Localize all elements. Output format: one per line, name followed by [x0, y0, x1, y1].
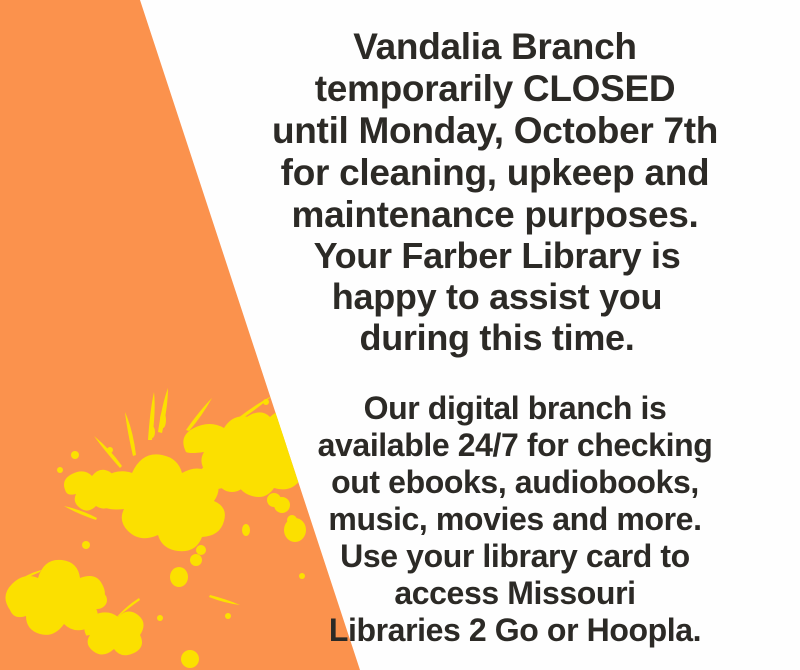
notice-text-column: Vandalia Branch temporarily CLOSED until…: [195, 0, 795, 670]
digital-branch-notice-text: Our digital branch is available 24/7 for…: [245, 390, 785, 649]
closure-notice-heading: Vandalia Branch temporarily CLOSED until…: [195, 26, 795, 236]
closure-notice-poster: Vandalia Branch temporarily CLOSED until…: [0, 0, 800, 670]
assistance-notice-text: Your Farber Library is happy to assist y…: [217, 235, 777, 358]
